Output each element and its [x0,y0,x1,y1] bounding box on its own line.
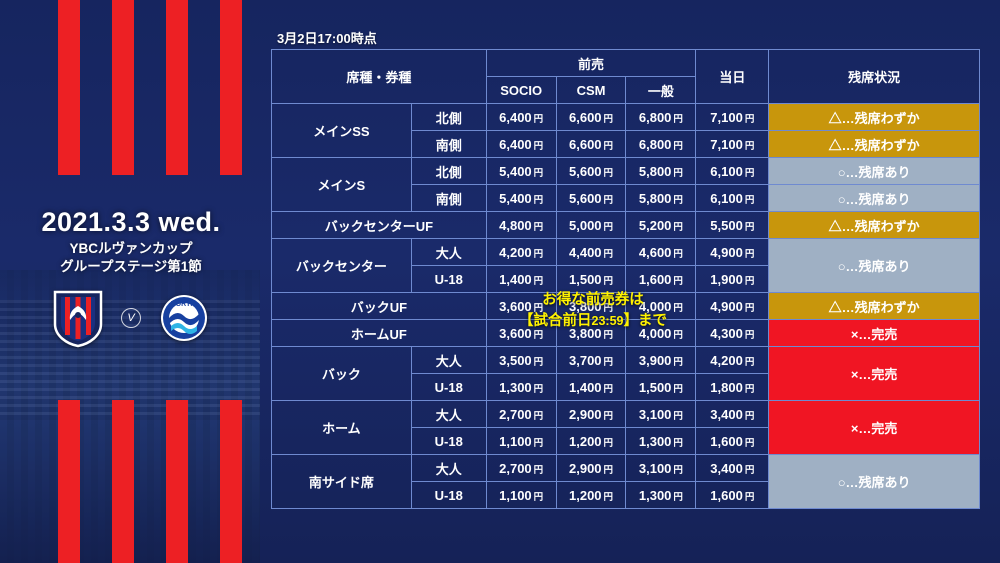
price-same-day: 4,200円 [696,347,769,374]
table-row: ホーム大人2,700円2,900円3,100円3,400円×…完売 [272,401,980,428]
table-row: ホームUF3,600円3,800円4,000円4,300円×…完売 [272,320,980,347]
yen-unit: 円 [532,303,544,314]
price-value: 1,500 [569,272,602,287]
price-value: 1,300 [639,434,672,449]
price-value: 4,600 [639,245,672,260]
price-general: 4,000円 [626,320,696,347]
price-general: 1,300円 [626,428,696,455]
price-value: 1,800 [710,380,743,395]
price-value: 3,100 [639,461,672,476]
price-same-day: 6,100円 [696,185,769,212]
yen-unit: 円 [743,303,755,314]
yen-unit: 円 [671,249,683,260]
price-value: 1,100 [499,434,532,449]
seat-type-label: ホームUF [272,320,487,347]
yen-unit: 円 [743,492,755,503]
price-value: 3,400 [710,461,743,476]
seat-subtype-label: U-18 [411,374,486,401]
status-badge: ×…完売 [769,347,980,401]
price-csm: 3,800円 [556,293,626,320]
seat-type-label: メインS [272,158,412,212]
seat-subtype-label: U-18 [411,428,486,455]
yen-unit: 円 [602,114,614,125]
yen-unit: 円 [532,330,544,341]
status-badge: ○…残席あり [769,158,980,185]
yen-unit: 円 [743,330,755,341]
price-general: 1,300円 [626,482,696,509]
status-badge: ○…残席あり [769,239,980,293]
price-same-day: 6,100円 [696,158,769,185]
header-advance: 前売 [486,50,696,77]
yen-unit: 円 [671,438,683,449]
table-row: バックUF3,600円3,800円4,000円4,900円△…残席わずか [272,293,980,320]
yen-unit: 円 [532,114,544,125]
price-value: 1,900 [710,272,743,287]
competition-name: YBCルヴァンカップ グループステージ第1節 [0,240,262,276]
seat-subtype-label: 南側 [411,131,486,158]
yen-unit: 円 [743,465,755,476]
yen-unit: 円 [602,168,614,179]
price-value: 2,900 [569,461,602,476]
yen-unit: 円 [743,114,755,125]
yen-unit: 円 [532,438,544,449]
status-badge: △…残席わずか [769,212,980,239]
yen-unit: 円 [602,195,614,206]
price-value: 3,900 [639,353,672,368]
away-team-crest-icon: VORTIS [157,288,211,348]
match-info-panel: 2021.3.3 wed. YBCルヴァンカップ グループステージ第1節 V [0,0,262,563]
seat-type-label: バックUF [272,293,487,320]
price-value: 6,100 [710,191,743,206]
table-header: 席種・券種 前売 当日 残席状況 SOCIO CSM 一般 [272,50,980,104]
yen-unit: 円 [671,303,683,314]
header-availability: 残席状況 [769,50,980,104]
price-general: 3,900円 [626,347,696,374]
table-row: メインS北側5,400円5,600円5,800円6,100円○…残席あり [272,158,980,185]
yen-unit: 円 [743,276,755,287]
price-value: 3,700 [569,353,602,368]
yen-unit: 円 [602,411,614,422]
price-csm: 6,600円 [556,104,626,131]
price-socio: 2,700円 [486,401,556,428]
price-value: 4,000 [639,299,672,314]
status-badge: ×…完売 [769,320,980,347]
yen-unit: 円 [743,222,755,233]
seat-subtype-label: U-18 [411,482,486,509]
price-general: 5,800円 [626,158,696,185]
yen-unit: 円 [743,168,755,179]
table-body: メインSS北側6,400円6,600円6,800円7,100円△…残席わずか南側… [272,104,980,509]
price-value: 1,300 [499,380,532,395]
price-value: 5,500 [710,218,743,233]
price-value: 6,800 [639,137,672,152]
price-general: 4,000円 [626,293,696,320]
yen-unit: 円 [532,411,544,422]
table-header-row-1: 席種・券種 前売 当日 残席状況 [272,50,980,77]
yen-unit: 円 [671,276,683,287]
price-socio: 6,400円 [486,104,556,131]
price-general: 3,100円 [626,455,696,482]
seat-type-label: バックセンター [272,239,412,293]
team-crests-row: V VORTIS [0,288,262,348]
seat-subtype-label: 大人 [411,401,486,428]
price-value: 3,600 [499,299,532,314]
yen-unit: 円 [743,384,755,395]
price-value: 1,100 [499,488,532,503]
yen-unit: 円 [602,438,614,449]
price-general: 6,800円 [626,104,696,131]
price-csm: 2,900円 [556,401,626,428]
price-csm: 5,600円 [556,158,626,185]
seat-subtype-label: 大人 [411,239,486,266]
price-csm: 1,200円 [556,428,626,455]
price-general: 3,100円 [626,401,696,428]
price-value: 5,400 [499,164,532,179]
price-same-day: 1,900円 [696,266,769,293]
price-value: 3,600 [499,326,532,341]
price-csm: 2,900円 [556,455,626,482]
seat-type-label: メインSS [272,104,412,158]
price-csm: 3,700円 [556,347,626,374]
price-socio: 1,100円 [486,482,556,509]
yen-unit: 円 [532,384,544,395]
header-seat-type: 席種・券種 [272,50,487,104]
yen-unit: 円 [602,249,614,260]
price-general: 6,800円 [626,131,696,158]
seat-type-label: 南サイド席 [272,455,412,509]
yen-unit: 円 [602,303,614,314]
price-same-day: 7,100円 [696,131,769,158]
price-general: 1,600円 [626,266,696,293]
seat-subtype-label: 大人 [411,347,486,374]
price-value: 1,600 [710,434,743,449]
yen-unit: 円 [743,357,755,368]
price-csm: 1,200円 [556,482,626,509]
price-general: 4,600円 [626,239,696,266]
price-same-day: 5,500円 [696,212,769,239]
yen-unit: 円 [602,276,614,287]
price-value: 5,400 [499,191,532,206]
price-socio: 1,100円 [486,428,556,455]
price-socio: 5,400円 [486,158,556,185]
yen-unit: 円 [671,357,683,368]
price-same-day: 1,600円 [696,428,769,455]
price-value: 6,100 [710,164,743,179]
yen-unit: 円 [671,222,683,233]
price-same-day: 1,600円 [696,482,769,509]
price-value: 5,800 [639,191,672,206]
competition-line-2: グループステージ第1節 [0,258,262,276]
price-csm: 1,500円 [556,266,626,293]
price-value: 1,400 [569,380,602,395]
price-socio: 1,300円 [486,374,556,401]
price-same-day: 3,400円 [696,401,769,428]
price-value: 5,600 [569,191,602,206]
price-csm: 6,600円 [556,131,626,158]
price-socio: 6,400円 [486,131,556,158]
price-same-day: 1,800円 [696,374,769,401]
price-socio: 3,500円 [486,347,556,374]
ticket-price-table: 席種・券種 前売 当日 残席状況 SOCIO CSM 一般 メインSS北側6,4… [271,49,980,509]
seat-subtype-label: U-18 [411,266,486,293]
yen-unit: 円 [671,465,683,476]
header-socio: SOCIO [486,77,556,104]
yen-unit: 円 [671,195,683,206]
yen-unit: 円 [532,141,544,152]
price-value: 1,500 [639,380,672,395]
price-csm: 5,600円 [556,185,626,212]
price-value: 4,000 [639,326,672,341]
price-value: 6,400 [499,110,532,125]
status-badge: △…残席わずか [769,104,980,131]
yen-unit: 円 [602,465,614,476]
price-socio: 1,400円 [486,266,556,293]
yen-unit: 円 [671,168,683,179]
price-value: 1,200 [569,488,602,503]
seat-type-label: バック [272,347,412,401]
table-row: 南サイド席大人2,700円2,900円3,100円3,400円○…残席あり [272,455,980,482]
price-socio: 2,700円 [486,455,556,482]
price-value: 5,800 [639,164,672,179]
price-value: 3,800 [569,326,602,341]
price-socio: 3,600円 [486,293,556,320]
yen-unit: 円 [743,411,755,422]
price-value: 6,600 [569,110,602,125]
price-socio: 4,200円 [486,239,556,266]
data-timestamp: 3月2日17:00時点 [277,28,377,47]
table-row: バックセンターUF4,800円5,000円5,200円5,500円△…残席わずか [272,212,980,239]
header-same-day: 当日 [696,50,769,104]
price-value: 4,200 [499,245,532,260]
price-value: 1,600 [710,488,743,503]
yen-unit: 円 [532,222,544,233]
status-badge: △…残席わずか [769,293,980,320]
status-badge: ×…完売 [769,401,980,455]
price-value: 4,200 [710,353,743,368]
price-same-day: 4,300円 [696,320,769,347]
header-csm: CSM [556,77,626,104]
yen-unit: 円 [602,141,614,152]
price-same-day: 7,100円 [696,104,769,131]
yen-unit: 円 [532,195,544,206]
price-value: 3,100 [639,407,672,422]
seat-subtype-label: 北側 [411,158,486,185]
status-badge: △…残席わずか [769,131,980,158]
price-value: 6,800 [639,110,672,125]
yen-unit: 円 [743,438,755,449]
yen-unit: 円 [671,384,683,395]
yen-unit: 円 [602,492,614,503]
price-value: 1,300 [639,488,672,503]
table-row: バック大人3,500円3,700円3,900円4,200円×…完売 [272,347,980,374]
price-value: 6,600 [569,137,602,152]
price-value: 4,300 [710,326,743,341]
price-value: 2,700 [499,407,532,422]
price-value: 7,100 [710,137,743,152]
price-value: 6,400 [499,137,532,152]
yen-unit: 円 [602,222,614,233]
seat-subtype-label: 北側 [411,104,486,131]
price-value: 1,600 [639,272,672,287]
price-value: 5,600 [569,164,602,179]
price-value: 3,800 [569,299,602,314]
home-team-crest-icon [51,288,105,348]
price-value: 2,700 [499,461,532,476]
yen-unit: 円 [602,357,614,368]
table-row: バックセンター大人4,200円4,400円4,600円4,900円○…残席あり [272,239,980,266]
yen-unit: 円 [532,492,544,503]
yen-unit: 円 [532,168,544,179]
price-csm: 3,800円 [556,320,626,347]
price-same-day: 3,400円 [696,455,769,482]
yen-unit: 円 [532,249,544,260]
yen-unit: 円 [532,276,544,287]
price-general: 1,500円 [626,374,696,401]
price-csm: 4,400円 [556,239,626,266]
yen-unit: 円 [602,384,614,395]
price-value: 4,900 [710,245,743,260]
yen-unit: 円 [671,492,683,503]
header-general: 一般 [626,77,696,104]
price-general: 5,800円 [626,185,696,212]
competition-line-1: YBCルヴァンカップ [0,240,262,258]
price-same-day: 4,900円 [696,239,769,266]
yen-unit: 円 [671,411,683,422]
price-socio: 5,400円 [486,185,556,212]
yen-unit: 円 [671,330,683,341]
price-value: 3,500 [499,353,532,368]
seat-subtype-label: 大人 [411,455,486,482]
price-value: 4,400 [569,245,602,260]
versus-badge: V [121,308,141,328]
match-date: 2021.3.3 wed. [0,207,262,238]
price-value: 2,900 [569,407,602,422]
status-badge: ○…残席あり [769,455,980,509]
price-general: 5,200円 [626,212,696,239]
yen-unit: 円 [671,141,683,152]
yen-unit: 円 [532,465,544,476]
yen-unit: 円 [743,141,755,152]
seat-type-label: ホーム [272,401,412,455]
price-csm: 1,400円 [556,374,626,401]
svg-text:VORTIS: VORTIS [171,301,197,308]
price-socio: 4,800円 [486,212,556,239]
price-value: 4,900 [710,299,743,314]
yen-unit: 円 [743,195,755,206]
yen-unit: 円 [532,357,544,368]
price-value: 5,000 [569,218,602,233]
price-value: 4,800 [499,218,532,233]
price-value: 1,400 [499,272,532,287]
price-same-day: 4,900円 [696,293,769,320]
yen-unit: 円 [671,114,683,125]
seat-type-label: バックセンターUF [272,212,487,239]
price-value: 7,100 [710,110,743,125]
price-value: 3,400 [710,407,743,422]
yen-unit: 円 [743,249,755,260]
price-socio: 3,600円 [486,320,556,347]
price-csm: 5,000円 [556,212,626,239]
status-badge: ○…残席あり [769,185,980,212]
yen-unit: 円 [602,330,614,341]
price-value: 1,200 [569,434,602,449]
seat-subtype-label: 南側 [411,185,486,212]
table-row: メインSS北側6,400円6,600円6,800円7,100円△…残席わずか [272,104,980,131]
price-value: 5,200 [639,218,672,233]
